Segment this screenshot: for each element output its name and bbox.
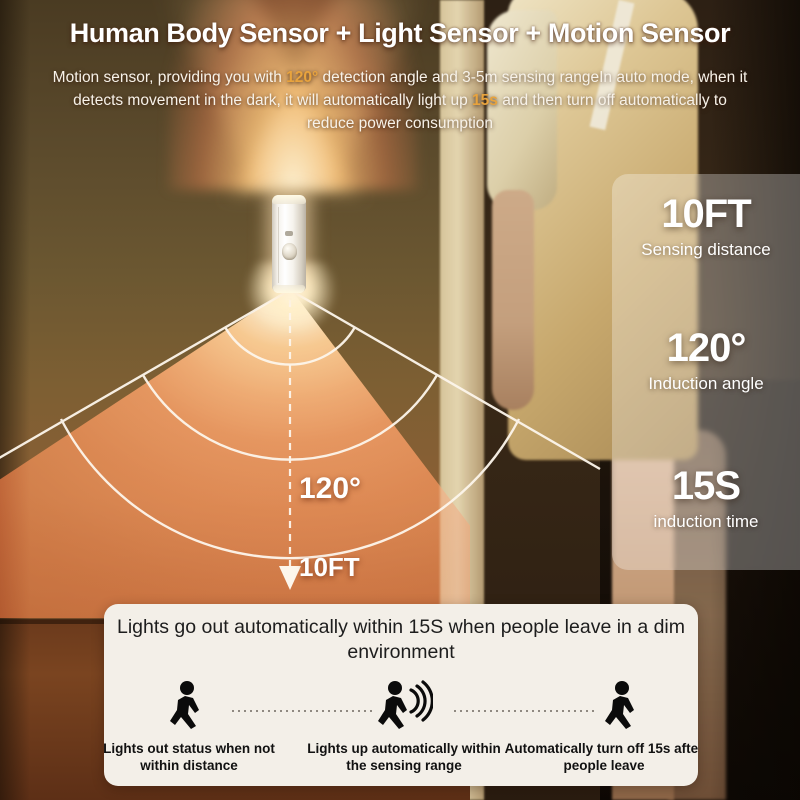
- device-led-indicator: [285, 231, 293, 236]
- cone-distance-label: 10FT: [299, 552, 360, 583]
- background-left-shadow: [0, 0, 30, 800]
- dotted-connector-2: [454, 710, 594, 712]
- step-icon-2: [373, 680, 433, 736]
- page-title: Human Body Sensor + Light Sensor + Motio…: [0, 18, 800, 49]
- subtitle-highlight-time: 15s: [472, 92, 498, 109]
- spec-stats-panel: 10FT Sensing distance 120° Induction ang…: [612, 174, 800, 570]
- stat-induction-angle: 120° Induction angle: [612, 326, 800, 394]
- subtitle-description: Motion sensor, providing you with 120° d…: [50, 66, 750, 135]
- step-caption-3: Automatically turn off 15s after people …: [504, 740, 698, 774]
- person-arm: [492, 190, 534, 410]
- step-caption-1: Lights out status when not within distan…: [104, 740, 289, 774]
- dotted-connector-1: [232, 710, 372, 712]
- device-seam-line: [278, 207, 279, 283]
- card-icons-row: [104, 680, 698, 736]
- card-title: Lights go out automatically within 15S w…: [116, 615, 686, 665]
- device-top-cap: [272, 195, 306, 204]
- stat-sensing-distance: 10FT Sensing distance: [612, 192, 800, 260]
- pir-sensor-dome-icon: [282, 243, 297, 260]
- stat-label: Sensing distance: [612, 240, 800, 260]
- motion-sensor-light-device: [272, 195, 306, 293]
- subtitle-highlight-angle: 120°: [286, 69, 318, 86]
- behaviour-summary-card: Lights go out automatically within 15S w…: [104, 604, 698, 786]
- subtitle-part-1: Motion sensor, providing you with: [53, 69, 286, 86]
- walking-person-icon: [159, 680, 219, 736]
- cone-angle-label: 120°: [299, 472, 361, 506]
- walking-person-icon: [594, 680, 654, 736]
- step-icon-1: [159, 680, 219, 736]
- product-infographic: Human Body Sensor + Light Sensor + Motio…: [0, 0, 800, 800]
- stat-value: 120°: [612, 326, 800, 371]
- stat-label: induction time: [612, 512, 800, 532]
- device-bottom-cap: [273, 285, 305, 293]
- step-caption-2: Lights up automatically within the sensi…: [304, 740, 504, 774]
- stat-value: 10FT: [612, 192, 800, 237]
- stat-value: 15S: [612, 464, 800, 509]
- walking-person-sensing-icon: [373, 680, 433, 736]
- step-icon-3: [594, 680, 654, 736]
- stat-induction-time: 15S induction time: [612, 464, 800, 532]
- stat-label: Induction angle: [612, 374, 800, 394]
